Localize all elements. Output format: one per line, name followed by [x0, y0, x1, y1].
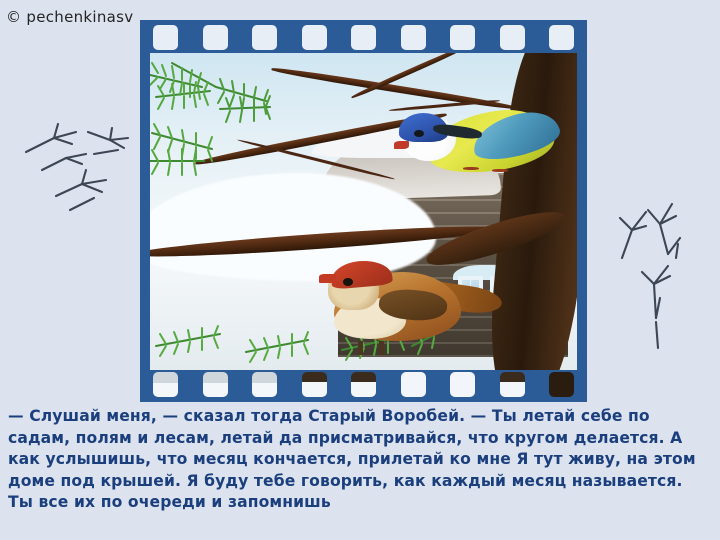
- sprocket-hole: [153, 25, 178, 50]
- filmstrip-frame: [140, 20, 587, 402]
- blue-tit-eye: [414, 130, 424, 137]
- sprocket-hole: [450, 25, 475, 50]
- sprocket-hole: [351, 25, 376, 50]
- slide-canvas: © pechenkinasv: [0, 0, 720, 540]
- sprocket-hole: [302, 25, 327, 50]
- sprocket-hole: [500, 25, 525, 50]
- pine-branch-upper-left: [150, 57, 336, 197]
- sprocket-hole: [549, 372, 574, 397]
- sparrow-leg: [379, 341, 384, 355]
- copyright-label: © pechenkinasv: [6, 8, 133, 26]
- sprocket-hole: [203, 25, 228, 50]
- bird-blue-tit: [398, 97, 560, 176]
- footprints-left-svg: [14, 118, 134, 213]
- sprocket-hole: [252, 372, 277, 397]
- bird-sparrow: [321, 250, 492, 351]
- bird-footprints-left-icon: [14, 118, 134, 218]
- sprocket-row-top: [153, 25, 574, 50]
- sprocket-hole: [401, 25, 426, 50]
- sparrow-beak: [319, 274, 336, 283]
- sprocket-hole: [252, 25, 277, 50]
- bird-footprints-right-icon: [598, 198, 708, 358]
- sprocket-hole: [351, 372, 376, 397]
- sprocket-row-bottom: [153, 372, 574, 397]
- winter-scene: [150, 53, 577, 370]
- sprocket-hole: [153, 372, 178, 397]
- sprocket-hole: [549, 25, 574, 50]
- sprocket-hole: [203, 372, 228, 397]
- blue-tit-foot: [492, 169, 508, 172]
- sprocket-hole: [500, 372, 525, 397]
- sparrow-leg: [358, 341, 363, 355]
- sprocket-hole: [302, 372, 327, 397]
- blue-tit-beak: [394, 141, 409, 149]
- sprocket-hole: [450, 372, 475, 397]
- slide-caption-text: — Слушай меня, — сказал тогда Старый Вор…: [8, 406, 712, 514]
- sprocket-hole: [401, 372, 426, 397]
- slide-photo: [150, 53, 577, 370]
- footprints-right-svg: [598, 198, 708, 353]
